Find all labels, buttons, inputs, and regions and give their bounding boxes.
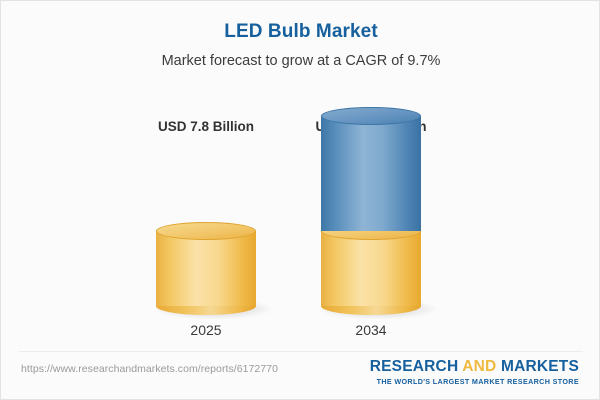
chart-subtitle: Market forecast to grow at a CAGR of 9.7… — [1, 53, 600, 69]
cylinder-body — [321, 231, 421, 306]
brand-logo-markets: MARKETS — [496, 358, 579, 375]
bar-value-label-2025: USD 7.8 Billion — [126, 119, 286, 134]
brand-logo-research: RESEARCH — [370, 358, 463, 375]
source-url[interactable]: https://www.researchandmarkets.com/repor… — [21, 363, 278, 375]
chart-title: LED Bulb Market — [1, 21, 600, 43]
footer-divider — [19, 351, 583, 352]
brand-logo-wordmark: RESEARCH AND MARKETS — [370, 358, 579, 376]
bar-segment-2034-growth[interactable] — [321, 116, 421, 231]
chart-plot-area: USD 7.8 Billion 2025 USD 19.69 Billion — [1, 81, 600, 346]
cylinder-body — [321, 116, 421, 231]
brand-logo-and: AND — [462, 358, 496, 375]
bar-category-label-2025: 2025 — [126, 322, 286, 338]
bar-group-2034: USD 19.69 Billion 2034 — [291, 81, 451, 346]
cylinder-top-ellipse — [156, 222, 256, 240]
bar-segment-2034-base[interactable] — [321, 231, 421, 306]
infographic-card: LED Bulb Market Market forecast to grow … — [0, 0, 600, 400]
bar-category-label-2034: 2034 — [291, 322, 451, 338]
bar-cylinder-2025 — [156, 231, 256, 306]
bar-cylinder-2034 — [321, 116, 421, 306]
brand-logo[interactable]: RESEARCH AND MARKETS THE WORLD'S LARGEST… — [370, 358, 579, 386]
brand-logo-tagline: THE WORLD'S LARGEST MARKET RESEARCH STOR… — [370, 377, 579, 386]
bar-group-2025: USD 7.8 Billion 2025 — [126, 81, 286, 346]
cylinder-top-ellipse — [321, 107, 421, 125]
cylinder-body — [156, 231, 256, 306]
bar-segment-2025-base[interactable] — [156, 231, 256, 306]
